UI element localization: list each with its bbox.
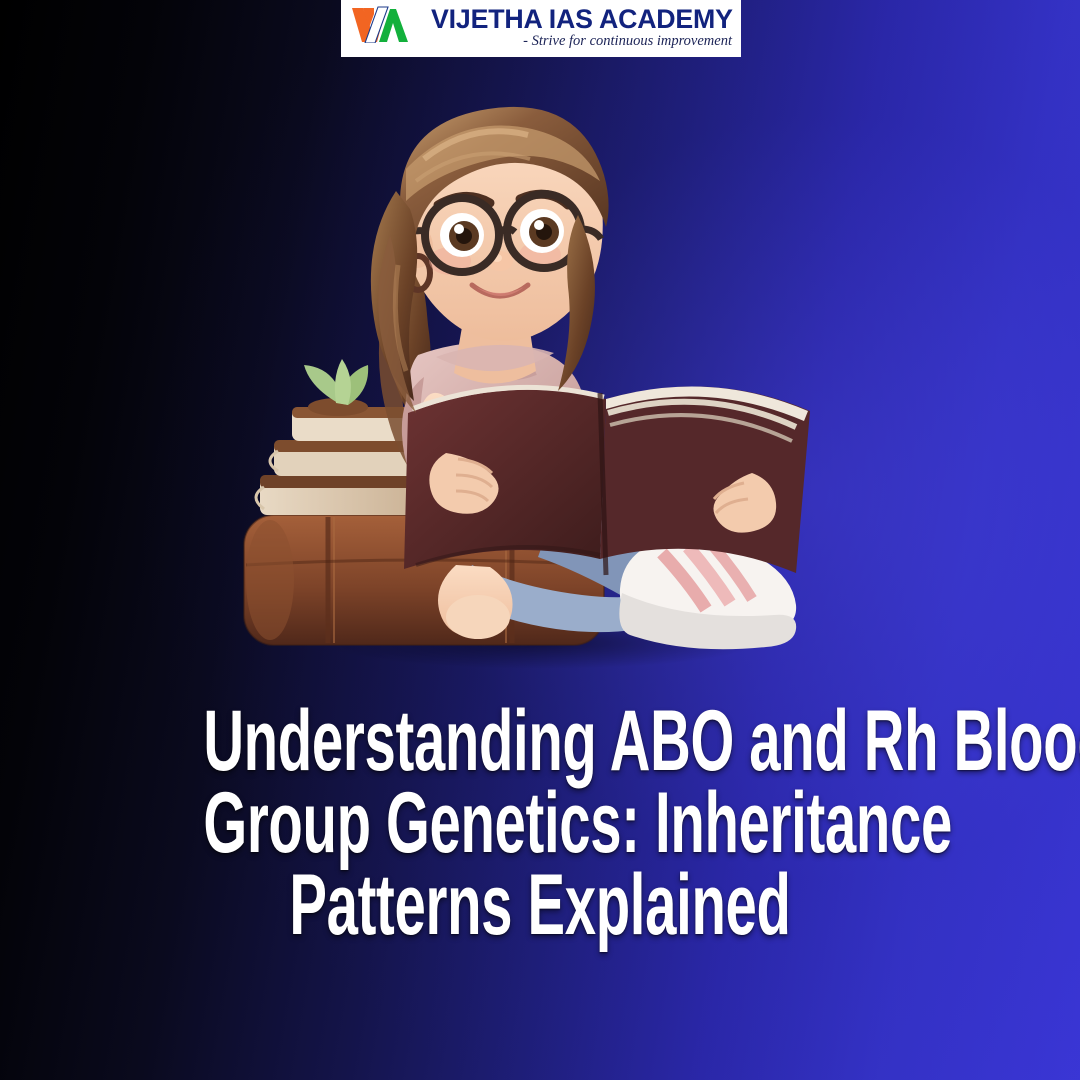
page-title: Understanding ABO and Rh Blood Group Gen…: [0, 700, 1080, 946]
logo-text-wrap: VIJETHA IAS ACADEMY - Strive for continu…: [409, 4, 733, 50]
potted-plant: [304, 359, 368, 416]
academy-name: VIJETHA IAS ACADEMY: [431, 4, 733, 34]
page-title-line-1: Understanding ABO and Rh Blood: [203, 700, 876, 782]
academy-tagline: - Strive for continuous improvement: [523, 33, 733, 50]
girl-reading-book-illustration: [210, 95, 880, 670]
page-title-line-2: Group Genetics: Inheritance: [203, 782, 876, 864]
va-monogram-logo: [351, 6, 409, 42]
page-title-line-3: Patterns Explained: [203, 864, 876, 946]
logo-band: VIJETHA IAS ACADEMY - Strive for continu…: [341, 0, 741, 57]
poster-canvas: VIJETHA IAS ACADEMY - Strive for continu…: [0, 0, 1080, 1080]
